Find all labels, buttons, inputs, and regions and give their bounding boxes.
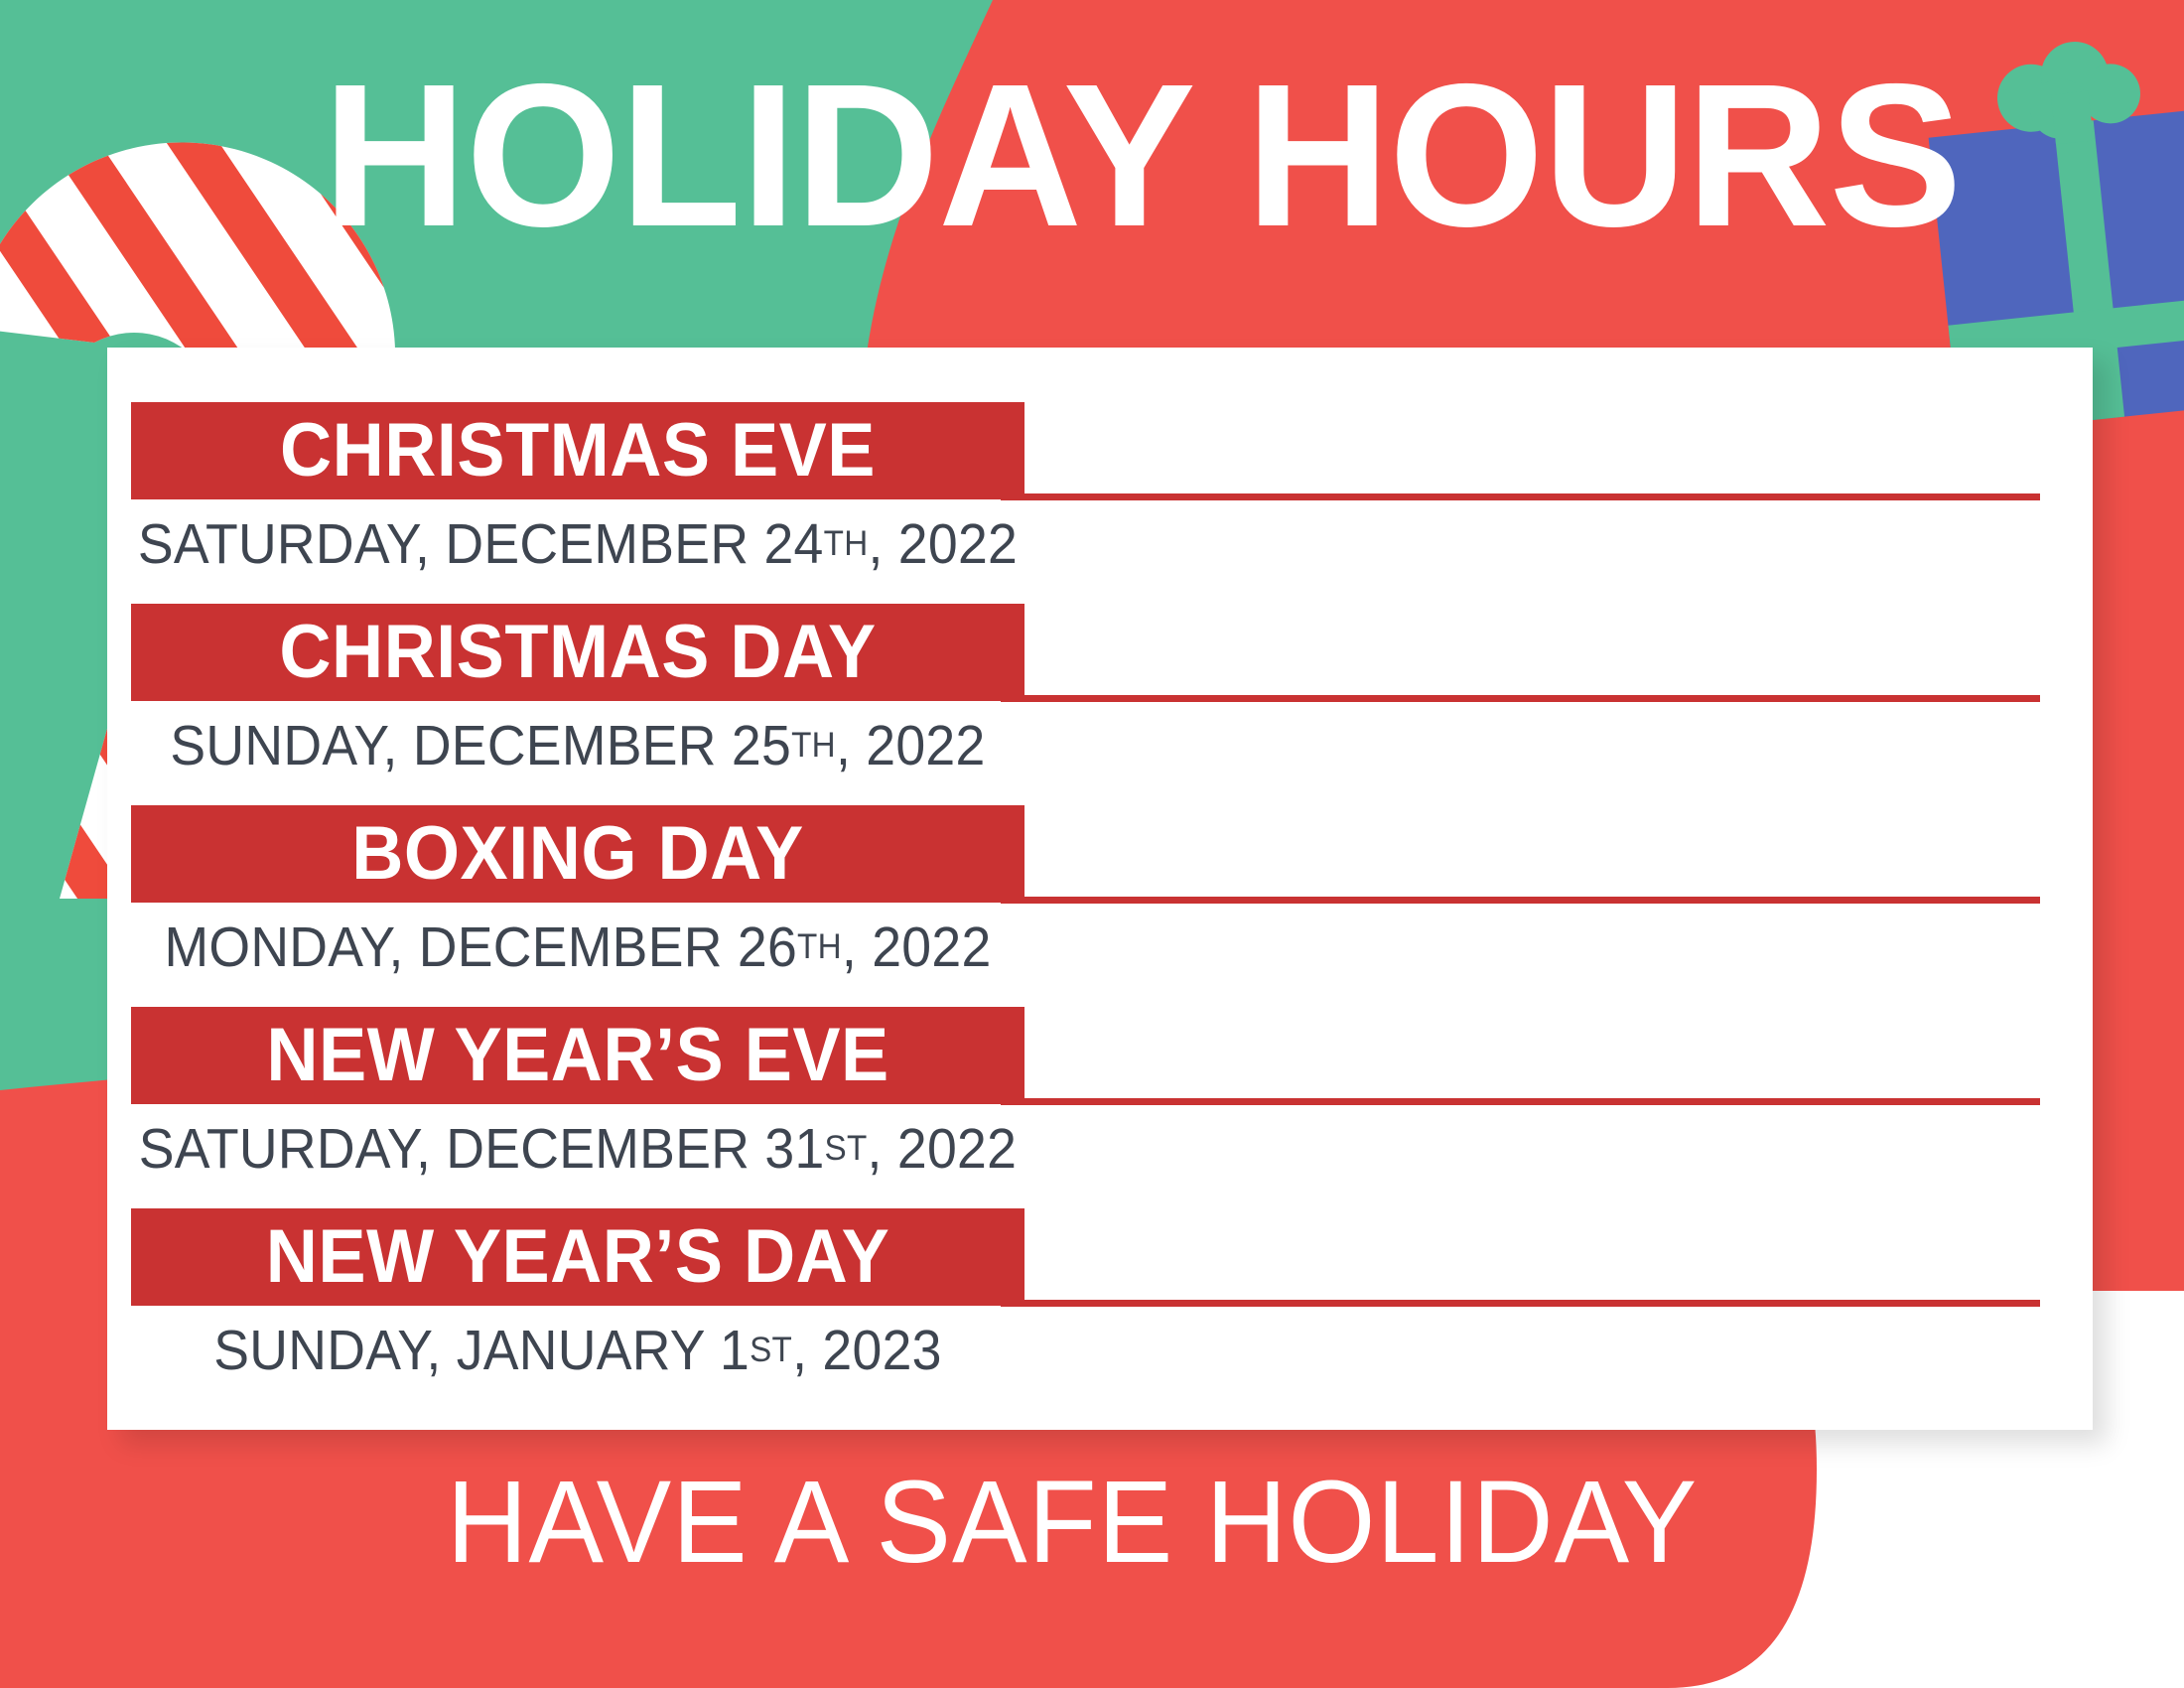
holiday-name: NEW YEAR’S EVE: [154, 1007, 1003, 1104]
holiday-name: NEW YEAR’S DAY: [154, 1208, 1003, 1306]
holiday-date: MONDAY, DECEMBER 26TH, 2022: [158, 909, 998, 986]
date-prefix: SATURDAY, DECEMBER 24: [138, 512, 824, 576]
date-suffix: , 2022: [836, 714, 986, 777]
tagline: HAVE A SAFE HOLIDAY: [443, 1458, 1701, 1587]
holiday-row: NEW YEAR’S EVE SATURDAY, DECEMBER 31ST, …: [107, 1007, 2093, 1205]
holiday-date: SUNDAY, DECEMBER 25TH, 2022: [158, 707, 998, 784]
holiday-name-band: CHRISTMAS EVE: [131, 402, 1024, 499]
holiday-row: CHRISTMAS EVE SATURDAY, DECEMBER 24TH, 2…: [107, 402, 2093, 601]
date-suffix: , 2022: [842, 915, 992, 979]
holiday-row: CHRISTMAS DAY SUNDAY, DECEMBER 25TH, 202…: [107, 604, 2093, 802]
holiday-hours-poster: HOLIDAY HOURS CHRISTMAS EVE SATURDAY, DE…: [0, 0, 2184, 1688]
date-prefix: SUNDAY, DECEMBER 25: [170, 714, 791, 777]
write-in-rule: [1001, 897, 2040, 904]
holiday-name-band: NEW YEAR’S DAY: [131, 1208, 1024, 1306]
holiday-name: BOXING DAY: [154, 805, 1003, 903]
page-title: HOLIDAY HOURS: [323, 62, 1899, 250]
date-suffix: , 2022: [868, 1117, 1018, 1181]
holiday-name-band: NEW YEAR’S EVE: [131, 1007, 1024, 1104]
holiday-row: NEW YEAR’S DAY SUNDAY, JANUARY 1ST, 2023: [107, 1208, 2093, 1407]
holiday-name-band: BOXING DAY: [131, 805, 1024, 903]
holiday-name: CHRISTMAS DAY: [154, 604, 1003, 701]
holiday-date: SATURDAY, DECEMBER 31ST, 2022: [158, 1110, 998, 1188]
holiday-date: SATURDAY, DECEMBER 24TH, 2022: [158, 505, 998, 583]
holiday-date: SUNDAY, JANUARY 1ST, 2023: [158, 1312, 998, 1389]
holiday-row: BOXING DAY MONDAY, DECEMBER 26TH, 2022: [107, 805, 2093, 1004]
write-in-rule: [1001, 1098, 2040, 1105]
date-suffix: , 2023: [792, 1319, 942, 1382]
write-in-rule: [1001, 493, 2040, 500]
date-prefix: SUNDAY, JANUARY 1: [213, 1319, 750, 1382]
holiday-name-band: CHRISTMAS DAY: [131, 604, 1024, 701]
write-in-rule: [1001, 695, 2040, 702]
date-suffix: , 2022: [868, 512, 1018, 576]
date-prefix: SATURDAY, DECEMBER 31: [139, 1117, 825, 1181]
write-in-rule: [1001, 1300, 2040, 1307]
holiday-name: CHRISTMAS EVE: [154, 402, 1003, 499]
holiday-hours-card: CHRISTMAS EVE SATURDAY, DECEMBER 24TH, 2…: [107, 348, 2093, 1430]
date-prefix: MONDAY, DECEMBER 26: [164, 915, 797, 979]
